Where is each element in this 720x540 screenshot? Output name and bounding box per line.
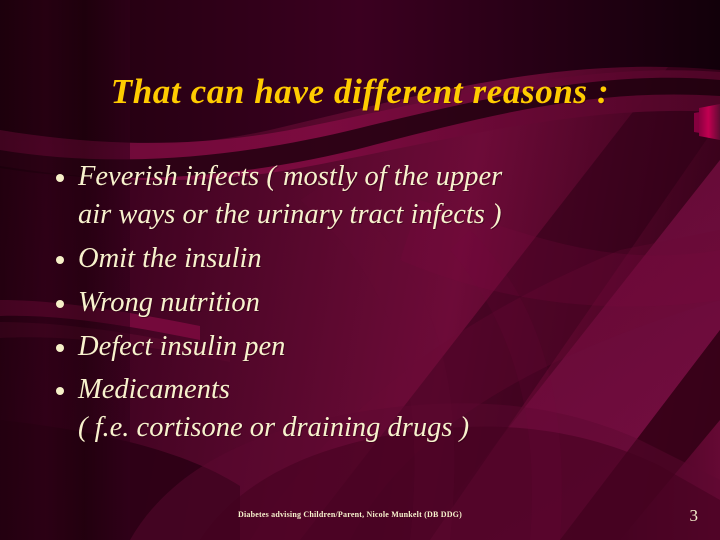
bullet-point-icon [56, 174, 64, 182]
bullet-line: Feverish infects ( mostly of the upper [78, 161, 502, 192]
bullet-text: Medicaments ( f.e. cortisone or draining… [78, 371, 680, 447]
bullet-list: Feverish infects ( mostly of the upper a… [56, 158, 680, 453]
bullet-line: Medicaments [78, 374, 230, 405]
slide-title: That can have different reasons : [0, 72, 720, 112]
list-item: Omit the insulin [56, 240, 680, 278]
bullet-line: Wrong nutrition [78, 287, 260, 318]
bullet-text: Defect insulin pen [78, 328, 680, 366]
bullet-point-icon [56, 387, 64, 395]
list-item: Medicaments ( f.e. cortisone or draining… [56, 371, 680, 447]
slide-page-number: 3 [690, 506, 699, 526]
bullet-line: ( f.e. cortisone or draining drugs ) [78, 409, 680, 447]
bullet-line: Defect insulin pen [78, 331, 285, 362]
bullet-line: air ways or the urinary tract infects ) [78, 196, 680, 234]
list-item: Wrong nutrition [56, 284, 680, 322]
bullet-line: Omit the insulin [78, 243, 262, 274]
slide-footer-note: Diabetes advising Children/Parent, Nicol… [0, 510, 700, 519]
bullet-text: Wrong nutrition [78, 284, 680, 322]
bullet-text: Feverish infects ( mostly of the upper a… [78, 158, 680, 234]
bullet-point-icon [56, 344, 64, 352]
bullet-point-icon [56, 300, 64, 308]
list-item: Feverish infects ( mostly of the upper a… [56, 158, 680, 234]
bullet-point-icon [56, 256, 64, 264]
list-item: Defect insulin pen [56, 328, 680, 366]
bullet-text: Omit the insulin [78, 240, 680, 278]
presentation-slide: That can have different reasons : Feveri… [0, 0, 720, 540]
